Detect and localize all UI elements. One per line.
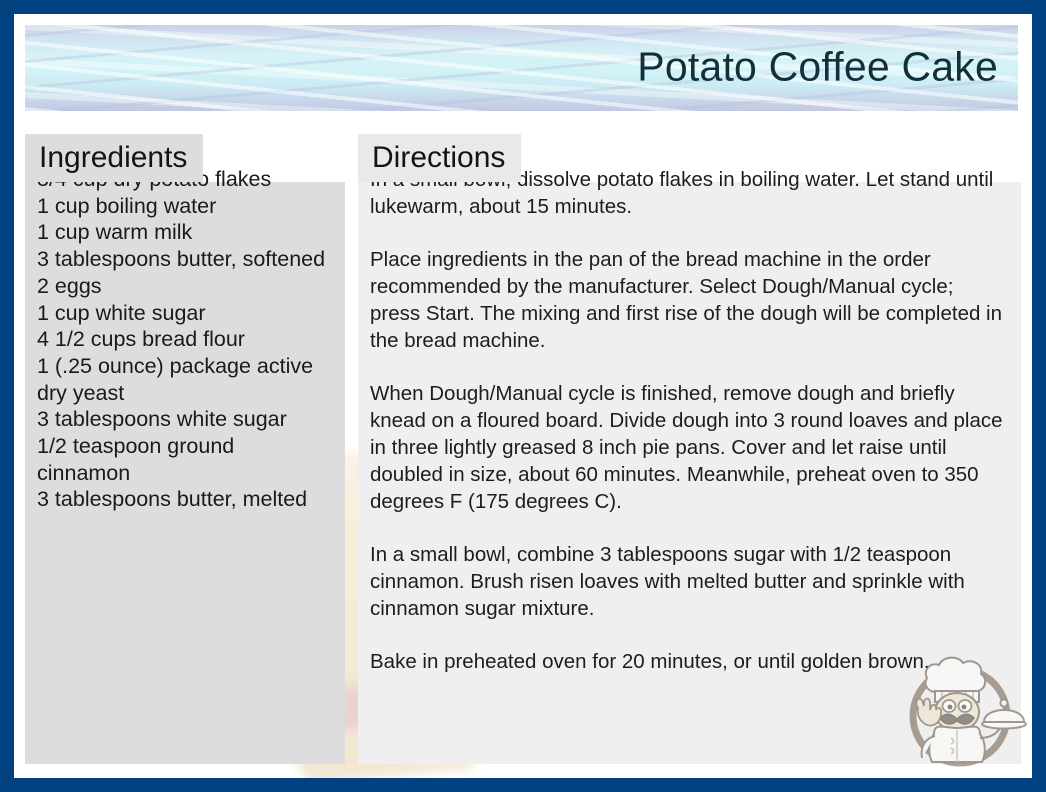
page-title: Potato Coffee Cake — [637, 44, 998, 91]
list-item: 3 tablespoons butter, softened — [37, 246, 331, 273]
direction-step: In a small bowl, combine 3 tablespoons s… — [370, 541, 1007, 622]
directions-heading: Directions — [358, 134, 521, 182]
recipe-card: Potato Coffee Cake — [0, 0, 1046, 792]
directions-body: In a small bowl, dissolve potato flakes … — [358, 134, 1021, 675]
list-item: 3 tablespoons white sugar — [37, 406, 331, 433]
ingredients-heading: Ingredients — [25, 134, 203, 182]
direction-step: Bake in preheated oven for 20 minutes, o… — [370, 648, 1007, 675]
list-item: 1/2 teaspoon ground cinnamon — [37, 433, 331, 486]
ingredient-list: 3/4 cup dry potato flakes 1 cup boiling … — [37, 166, 331, 513]
ingredients-column: Ingredients 3/4 cup dry potato flakes 1 … — [25, 134, 345, 764]
list-item: 1 cup boiling water — [37, 193, 331, 220]
ingredients-body: 3/4 cup dry potato flakes 1 cup boiling … — [25, 134, 345, 513]
list-item: 3 tablespoons butter, melted — [37, 486, 331, 513]
directions-column: Directions In a small bowl, dissolve pot… — [358, 134, 1021, 764]
list-item: 1 cup white sugar — [37, 300, 331, 327]
list-item: 1 cup warm milk — [37, 219, 331, 246]
header-banner: Potato Coffee Cake — [25, 25, 1018, 111]
list-item: 4 1/2 cups bread flour — [37, 326, 331, 353]
list-item: 1 (.25 ounce) package active dry yeast — [37, 353, 331, 406]
list-item: 2 eggs — [37, 273, 331, 300]
direction-step-list: In a small bowl, dissolve potato flakes … — [370, 166, 1007, 675]
direction-step: Place ingredients in the pan of the brea… — [370, 246, 1007, 354]
direction-step: When Dough/Manual cycle is finished, rem… — [370, 380, 1007, 515]
